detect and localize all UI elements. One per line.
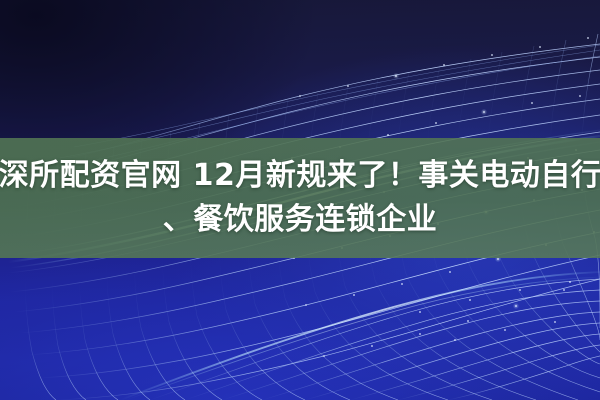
headline-block: 富深所配资官网 12月新规来了！事关电动自行车 、餐饮服务连锁企业 [0, 138, 600, 258]
banner-image: 富深所配资官网 12月新规来了！事关电动自行车 、餐饮服务连锁企业 [0, 0, 600, 400]
headline-line-2: 、餐饮服务连锁企业 [163, 198, 438, 242]
headline-line-1: 富深所配资官网 12月新规来了！事关电动自行车 [0, 154, 600, 198]
